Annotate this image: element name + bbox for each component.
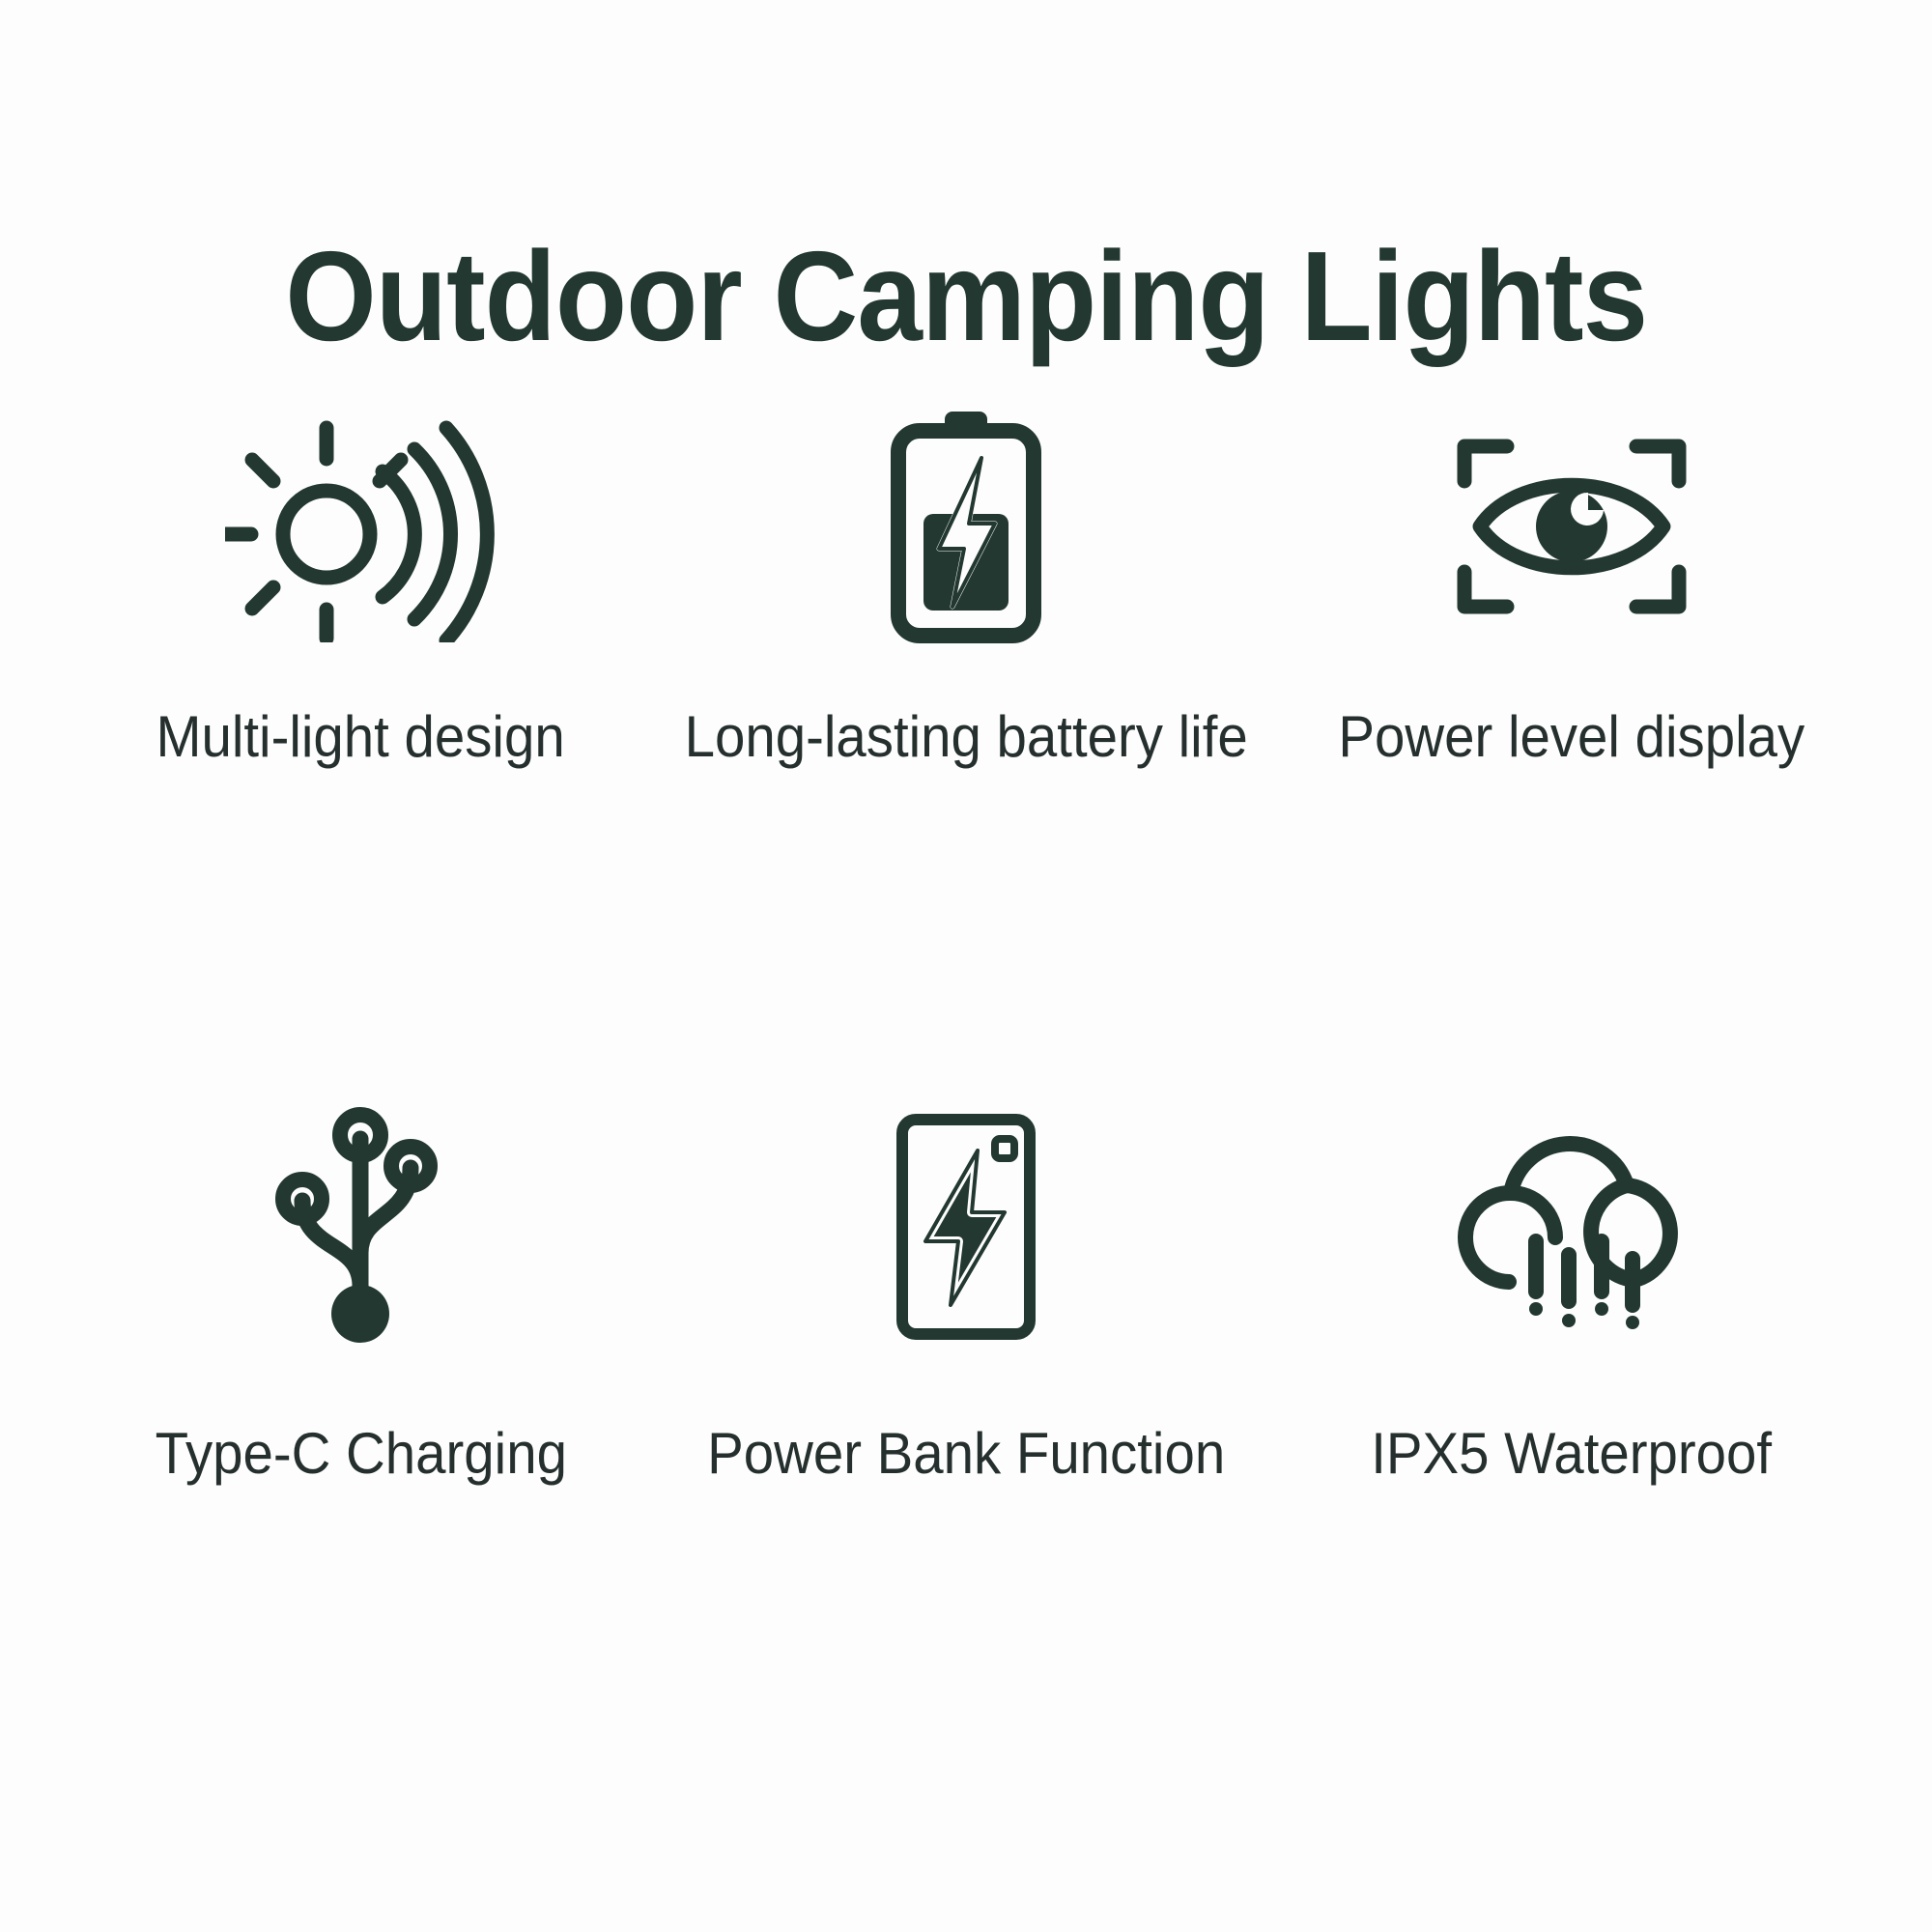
feature-grid: Multi-light design Long-lasting battery …: [58, 386, 1874, 1526]
feature-cell-type-c-charging: Type-C Charging: [58, 1082, 664, 1526]
page-title: Outdoor Camping Lights: [285, 230, 1647, 364]
usb-trident-icon: [264, 1082, 457, 1372]
feature-label: Power level display: [1338, 705, 1804, 769]
feature-label: IPX5 Waterproof: [1371, 1422, 1772, 1486]
eye-scan-icon: [1451, 386, 1692, 667]
feature-cell-multi-light-design: Multi-light design: [58, 386, 664, 831]
feature-label: Type-C Charging: [155, 1422, 566, 1486]
power-bank-bolt-icon: [869, 1082, 1063, 1372]
cloud-rain-icon: [1451, 1082, 1692, 1372]
feature-cell-ipx5-waterproof: IPX5 Waterproof: [1268, 1082, 1874, 1526]
product-feature-infographic: Outdoor Camping Lights: [0, 0, 1932, 1932]
feature-label: Long-lasting battery life: [684, 705, 1247, 769]
battery-bolt-icon: [869, 386, 1063, 667]
feature-cell-power-level-display: Power level display: [1268, 386, 1874, 831]
feature-label: Multi-light design: [156, 705, 565, 769]
feature-cell-long-lasting-battery-life: Long-lasting battery life: [664, 386, 1269, 831]
feature-cell-power-bank-function: Power Bank Function: [664, 1082, 1269, 1526]
sun-waves-icon: [225, 386, 496, 667]
feature-label: Power Bank Function: [707, 1422, 1225, 1486]
